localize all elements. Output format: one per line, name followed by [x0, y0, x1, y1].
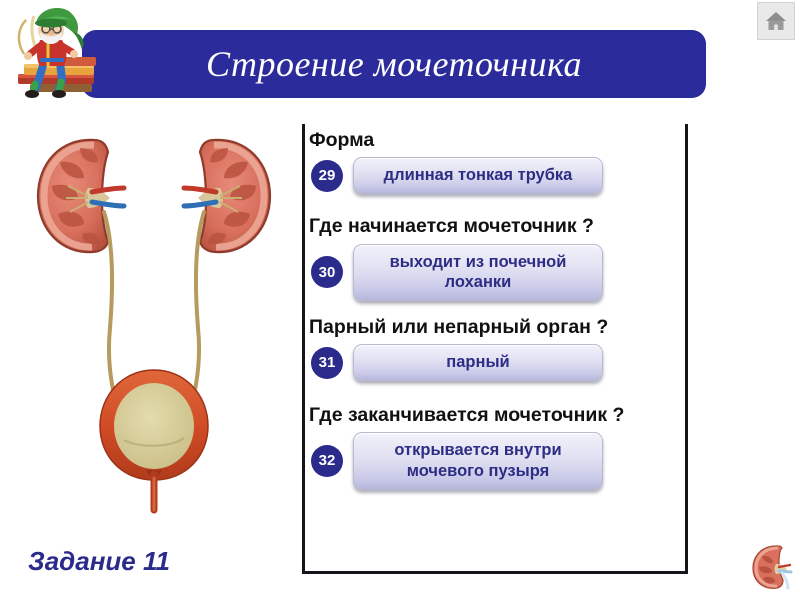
title-banner: Строение мочеточника [82, 30, 706, 98]
answer-box[interactable]: парный [353, 344, 603, 381]
answer-box[interactable]: открывается внутри мочевого пузыря [353, 432, 603, 489]
step-badge[interactable]: 29 [311, 160, 343, 192]
question-label: Где начинается мочеточник ? [309, 216, 695, 237]
answer-row: 29 длинная тонкая трубка [305, 157, 695, 194]
answer-box[interactable]: длинная тонкая трубка [353, 157, 603, 194]
answer-text: выходит из почечной лоханки [364, 252, 592, 293]
gnome-reading-icon [4, 2, 109, 102]
kidney-cross-section-thumbnail[interactable] [748, 540, 796, 594]
urinary-system-diagram [18, 118, 290, 518]
question-label: Парный или непарный орган ? [309, 317, 695, 338]
question-label: Форма [309, 130, 695, 151]
step-badge[interactable]: 30 [311, 256, 343, 288]
qa-list: Форма 29 длинная тонкая трубка Где начин… [305, 130, 695, 490]
step-badge[interactable]: 31 [311, 347, 343, 379]
answer-text: длинная тонкая трубка [384, 165, 573, 186]
answer-row: 32 открывается внутри мочевого пузыря [305, 432, 695, 489]
home-icon [764, 9, 788, 33]
page-title: Строение мочеточника [206, 46, 582, 82]
qa-block-4: Где заканчивается мочеточник ? 32 открыв… [305, 405, 695, 490]
home-button[interactable] [757, 2, 795, 40]
answer-text: парный [446, 352, 509, 373]
slide-canvas: Строение мочеточника [0, 0, 800, 600]
question-label: Где заканчивается мочеточник ? [309, 405, 695, 426]
answer-row: 30 выходит из почечной лоханки [305, 244, 695, 301]
qa-block-1: Форма 29 длинная тонкая трубка [305, 130, 695, 194]
answer-box[interactable]: выходит из почечной лоханки [353, 244, 603, 301]
step-badge[interactable]: 32 [311, 445, 343, 477]
answer-row: 31 парный [305, 344, 695, 381]
answer-text: открывается внутри мочевого пузыря [364, 440, 592, 481]
qa-block-2: Где начинается мочеточник ? 30 выходит и… [305, 216, 695, 301]
task-label: Задание 11 [28, 546, 170, 577]
qa-block-3: Парный или непарный орган ? 31 парный [305, 317, 695, 381]
